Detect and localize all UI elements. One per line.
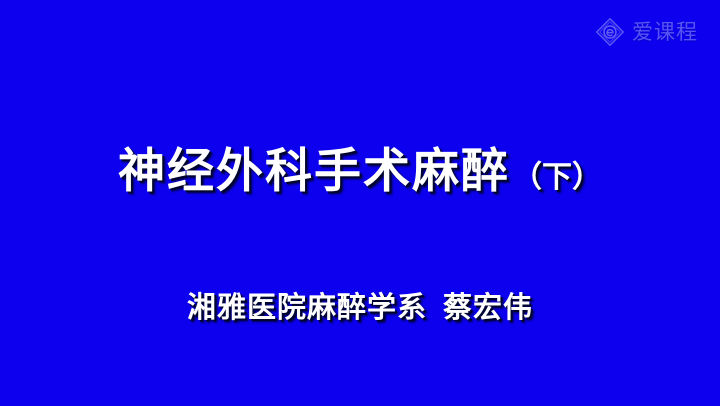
page-title-main: 神经外科手术麻醉 bbox=[118, 144, 510, 199]
watermark: 爱课程 bbox=[595, 17, 698, 47]
lecture-title-slide: 爱课程 神经外科手术麻醉（下） 湘雅医院麻醉学系蔡宏伟 bbox=[0, 0, 720, 406]
byline-affiliation: 湘雅医院麻醉学系 bbox=[187, 290, 427, 324]
watermark-brand-text: 爱课程 bbox=[632, 22, 698, 43]
icourse-e-emblem-icon bbox=[595, 17, 625, 47]
page-title: 神经外科手术麻醉（下） bbox=[0, 148, 720, 195]
byline-presenter: 蔡宏伟 bbox=[443, 290, 533, 324]
byline: 湘雅医院麻醉学系蔡宏伟 bbox=[0, 293, 720, 322]
page-title-part-suffix: （下） bbox=[512, 160, 602, 195]
